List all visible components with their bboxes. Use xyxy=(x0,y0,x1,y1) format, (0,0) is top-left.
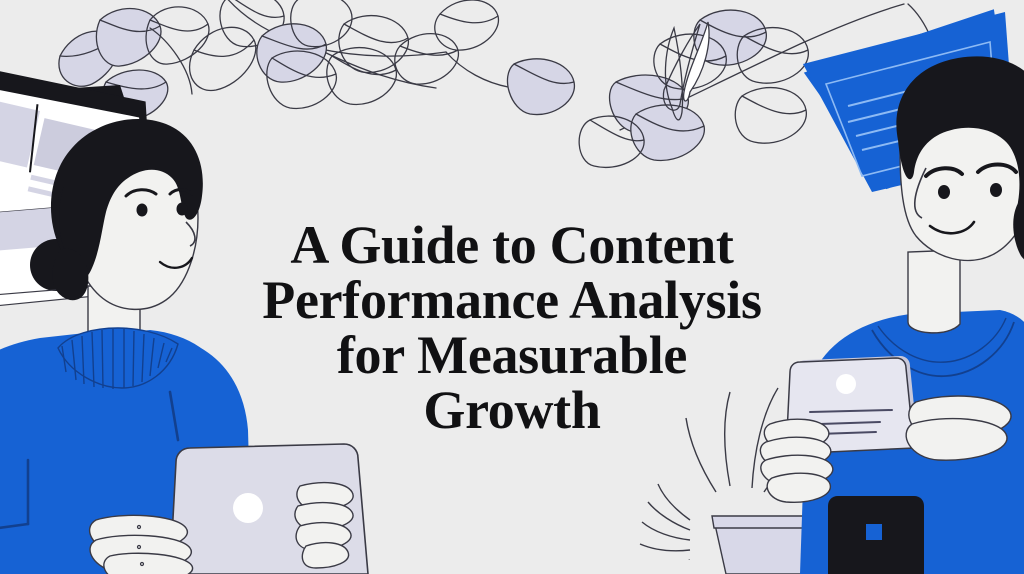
surface-edge xyxy=(370,560,700,574)
laptop-logo xyxy=(233,493,263,523)
tablet-logo xyxy=(836,374,856,394)
illustration-artboard xyxy=(0,0,1024,574)
device-indicator xyxy=(866,524,882,540)
poster-canvas: A Guide to Content Performance Analysis … xyxy=(0,0,1024,574)
black-device xyxy=(828,496,924,574)
